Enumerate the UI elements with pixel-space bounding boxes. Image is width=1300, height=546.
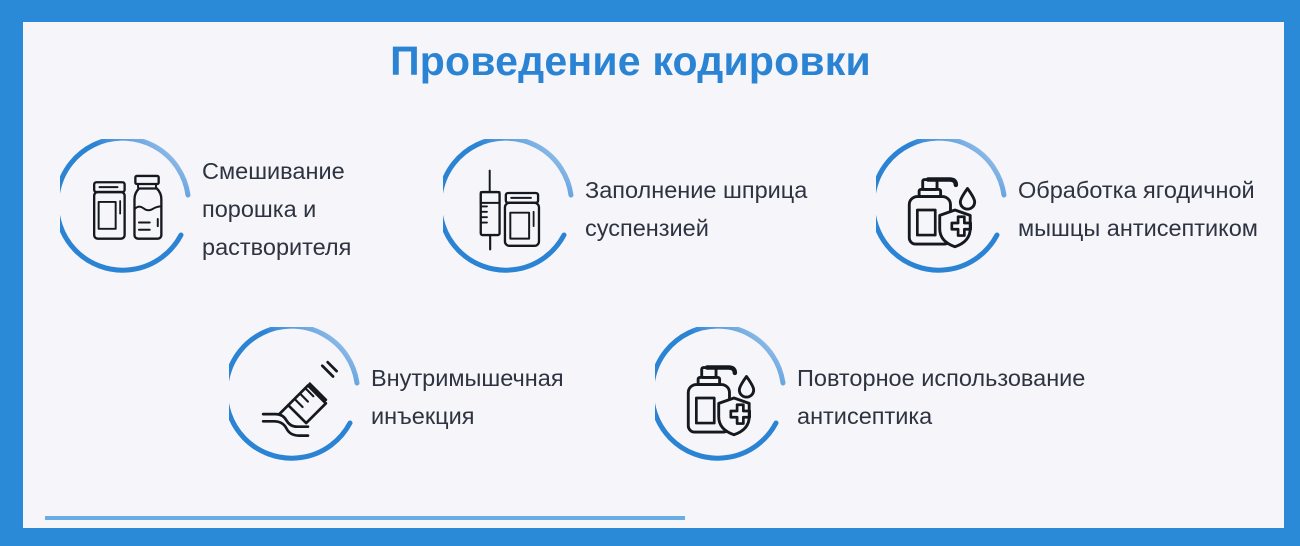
vial-and-bottle-icon <box>86 167 174 253</box>
step-label-4: Внутримышечная инъекция <box>371 359 564 435</box>
intramuscular-injection-icon <box>255 355 343 441</box>
blue-frame: Проведение кодировки <box>0 0 1300 546</box>
step-item-4: Внутримышечная инъекция <box>229 327 564 467</box>
syringe-and-vial-icon <box>469 167 557 253</box>
step-label-5: Повторное использование антисептика <box>797 359 1085 435</box>
antiseptic-dispenser-shield-icon <box>681 355 769 441</box>
step-circle-5 <box>655 327 795 467</box>
step-circle-4 <box>229 327 369 467</box>
step-item-1: Смешивание порошка и растворителя <box>60 139 351 279</box>
step-circle-2 <box>443 139 583 279</box>
step-label-3: Обработка ягодичной мышцы антисептиком <box>1018 171 1258 247</box>
panel-shadow-band <box>45 516 685 520</box>
step-item-3: Обработка ягодичной мышцы антисептиком <box>876 139 1258 279</box>
antiseptic-dispenser-shield-icon <box>902 167 990 253</box>
step-label-2: Заполнение шприца суспензией <box>585 171 807 247</box>
step-item-2: Заполнение шприца суспензией <box>443 139 807 279</box>
step-circle-1 <box>60 139 200 279</box>
step-label-1: Смешивание порошка и растворителя <box>202 152 351 266</box>
step-item-5: Повторное использование антисептика <box>655 327 1085 467</box>
step-circle-3 <box>876 139 1016 279</box>
page-title: Проведение кодировки <box>0 38 1261 85</box>
